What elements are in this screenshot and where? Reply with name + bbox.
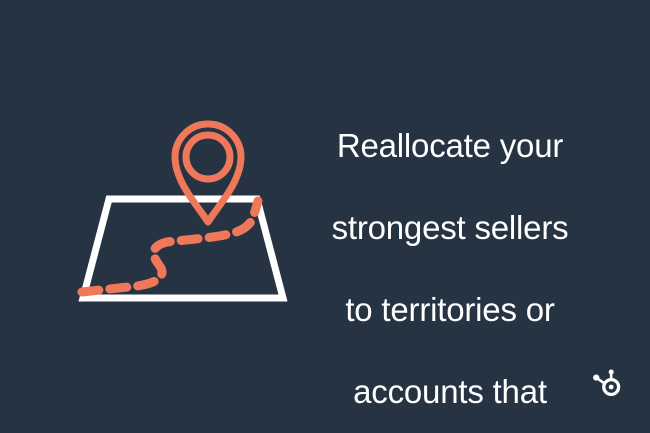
hubspot-logo <box>589 368 621 400</box>
headline-line-3: to territories or <box>300 289 600 330</box>
headline-text: Reallocate your strongest sellers to ter… <box>300 84 600 433</box>
headline-line-4: accounts that <box>300 371 600 412</box>
headline-line-2: strongest sellers <box>300 207 600 248</box>
location-pin-icon <box>175 124 241 222</box>
headline-line-1: Reallocate your <box>300 125 600 166</box>
map-illustration-svg <box>55 100 305 325</box>
map-illustration <box>55 100 305 325</box>
slide-canvas: Reallocate your strongest sellers to ter… <box>0 0 650 433</box>
hubspot-sprocket-icon <box>589 368 621 400</box>
location-pin-inner-ring-icon <box>186 135 230 179</box>
